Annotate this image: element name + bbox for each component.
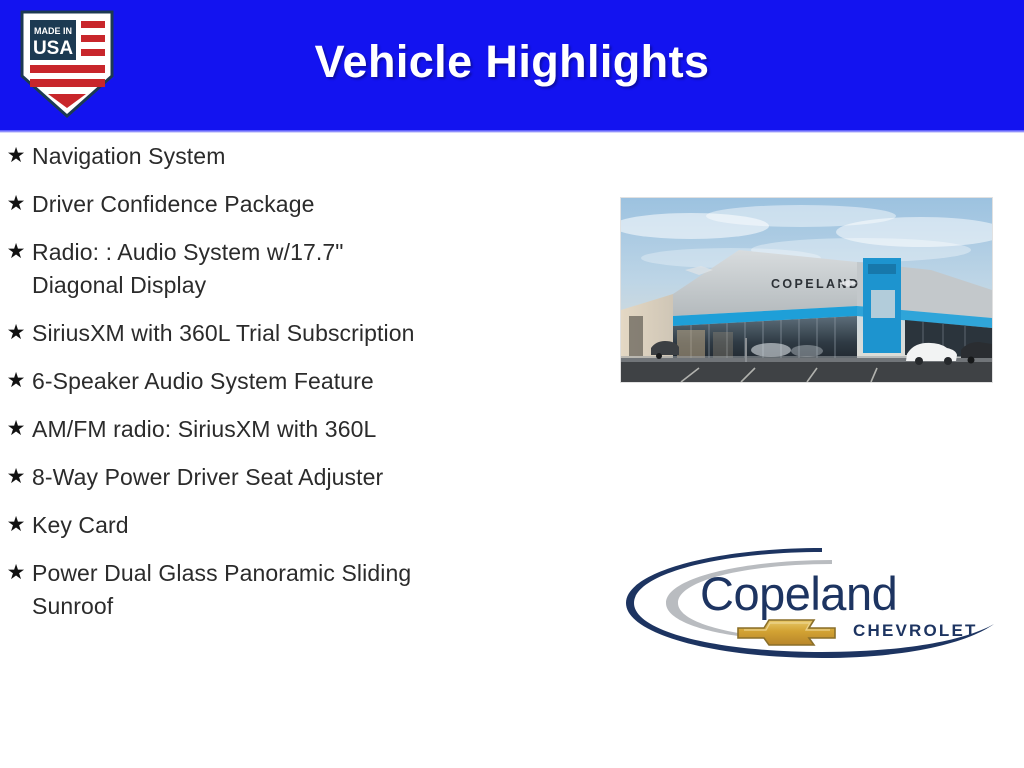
star-bullet-icon: ★ <box>0 317 32 348</box>
star-bullet-icon: ★ <box>0 188 32 219</box>
copeland-chevrolet-logo: Copeland CHEVROLET <box>622 548 994 658</box>
list-item: ★ 6-Speaker Audio System Feature <box>0 365 580 398</box>
page-header: MADE IN USA Vehicle Highlights <box>0 0 1024 130</box>
list-item-label: AM/FM radio: SiriusXM with 360L <box>32 413 376 446</box>
list-item: ★ 8-Way Power Driver Seat Adjuster <box>0 461 580 494</box>
star-bullet-icon: ★ <box>0 461 32 492</box>
badge-made-in-text: MADE IN <box>34 26 72 36</box>
list-item: ★ Radio: : Audio System w/17.7" Diagonal… <box>0 236 580 302</box>
star-bullet-icon: ★ <box>0 365 32 396</box>
chevrolet-bowtie-icon <box>738 620 835 645</box>
list-item-label: 6-Speaker Audio System Feature <box>32 365 374 398</box>
star-bullet-icon: ★ <box>0 236 32 267</box>
logo-wordmark: Copeland <box>700 567 897 620</box>
list-item: ★ Power Dual Glass Panoramic Sliding Sun… <box>0 557 580 623</box>
dealership-photo: COPELAND <box>621 198 992 382</box>
star-bullet-icon: ★ <box>0 557 32 588</box>
list-item: ★ Driver Confidence Package <box>0 188 580 221</box>
list-item-label: Power Dual Glass Panoramic Sliding Sunro… <box>32 557 411 623</box>
logo-subtext: CHEVROLET <box>853 621 978 640</box>
list-item: ★ AM/FM radio: SiriusXM with 360L <box>0 413 580 446</box>
list-item-label: Radio: : Audio System w/17.7" Diagonal D… <box>32 236 344 302</box>
star-bullet-icon: ★ <box>0 509 32 540</box>
list-item-label: Key Card <box>32 509 129 542</box>
list-item-label: SiriusXM with 360L Trial Subscription <box>32 317 415 350</box>
list-item-label: Driver Confidence Package <box>32 188 314 221</box>
list-item-label: 8-Way Power Driver Seat Adjuster <box>32 461 383 494</box>
star-bullet-icon: ★ <box>0 413 32 444</box>
page-title: Vehicle Highlights <box>0 36 1024 88</box>
star-bullet-icon: ★ <box>0 140 32 171</box>
header-underline <box>0 130 1024 133</box>
list-item: ★ SiriusXM with 360L Trial Subscription <box>0 317 580 350</box>
list-item: ★ Navigation System <box>0 140 580 173</box>
vehicle-highlights-list: ★ Navigation System ★ Driver Confidence … <box>0 140 580 638</box>
list-item-label: Navigation System <box>32 140 225 173</box>
list-item: ★ Key Card <box>0 509 580 542</box>
